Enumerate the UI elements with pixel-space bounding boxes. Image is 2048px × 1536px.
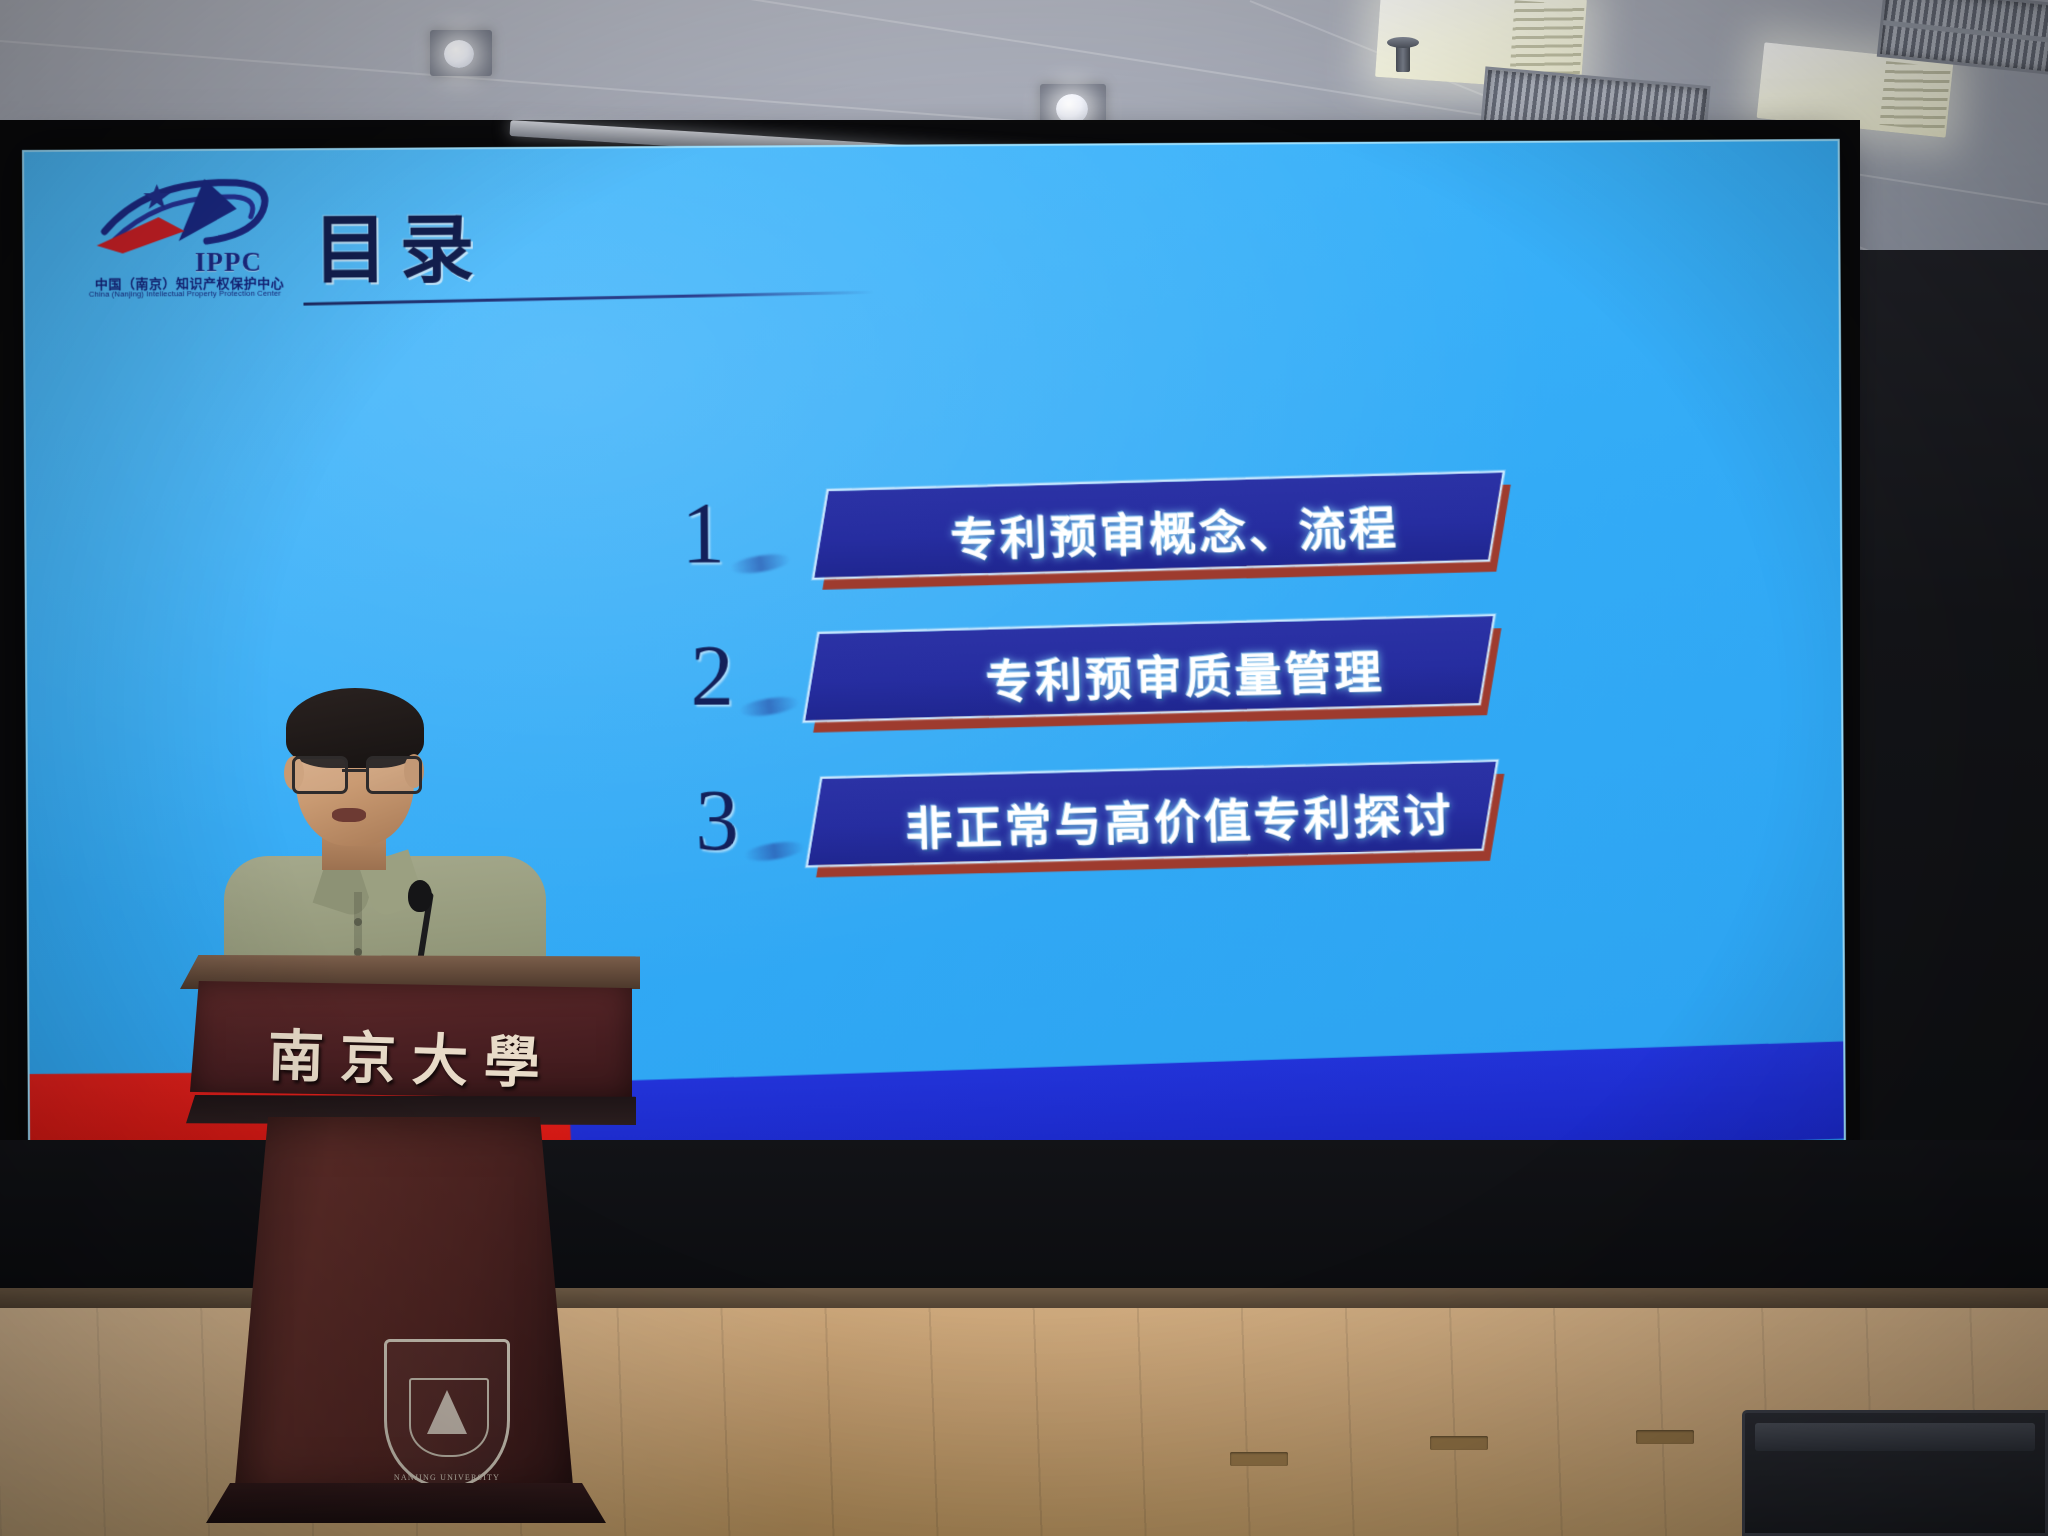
toc-item-label: 非正常与高价值专利探讨 (905, 779, 1455, 859)
podium-plaque-text: 南京大學 (267, 1011, 557, 1100)
slide-title: 目录 (313, 189, 487, 297)
podium-body: NANJING UNIVERSITY (234, 1117, 574, 1497)
microphone-head-icon (408, 880, 432, 912)
toc-item[interactable]: 1 专利预审概念、流程 (26, 475, 1840, 594)
conference-hall-photo: IPPC 中国（南京）知识产权保护中心 China (Nanjing) Inte… (0, 0, 2048, 1536)
presenter-mouth (332, 808, 366, 822)
logo-name-en: China (Nanjing) Intellectual Property Pr… (89, 289, 281, 299)
control-desk (1742, 1410, 2048, 1536)
toc-item-swoosh-icon (729, 551, 791, 577)
floor-socket (1230, 1452, 1288, 1466)
toc-item-number: 2 (690, 632, 734, 719)
crest-label: NANJING UNIVERSITY (384, 1473, 510, 1482)
eyeglasses-icon (290, 756, 422, 790)
fire-sprinkler-icon (1396, 42, 1410, 72)
podium-base (206, 1483, 606, 1523)
ippc-logo: IPPC 中国（南京）知识产权保护中心 China (Nanjing) Inte… (86, 168, 337, 305)
floor-socket (1430, 1436, 1488, 1450)
presenter-shirt-button (354, 918, 362, 926)
toc-item-number: 1 (681, 489, 725, 576)
toc-item-swoosh-icon (738, 694, 800, 719)
nanjing-university-shield-crest-icon: NANJING UNIVERSITY (384, 1339, 510, 1489)
toc-item-swoosh-icon (743, 839, 805, 864)
toc-item-label: 专利预审质量管理 (985, 636, 1386, 713)
recessed-downlight-icon (430, 30, 492, 76)
toc-item-label: 专利预审概念、流程 (950, 492, 1400, 571)
podium: 南京大學 NANJING UNIVERSITY (180, 955, 640, 1536)
toc-item-number: 3 (695, 777, 739, 863)
podium-plaque: 南京大學 (190, 981, 632, 1099)
floor-socket (1636, 1430, 1694, 1444)
